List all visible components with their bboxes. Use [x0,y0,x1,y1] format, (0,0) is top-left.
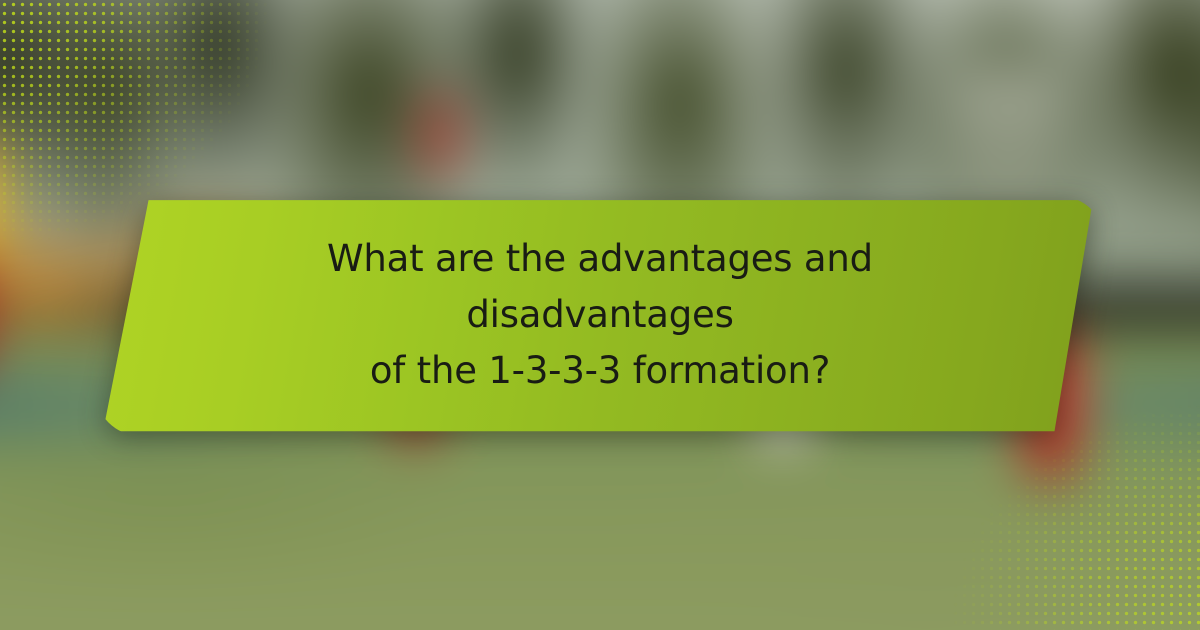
player-red-kit-far [420,90,460,180]
question-card-canvas: What are the advantages and disadvantage… [0,0,1200,630]
question-card-surface: What are the advantages and disadvantage… [95,196,1105,436]
question-text: What are the advantages and disadvantage… [200,231,1000,402]
question-card-content: What are the advantages and disadvantage… [95,196,1105,436]
question-card: What are the advantages and disadvantage… [95,196,1105,436]
